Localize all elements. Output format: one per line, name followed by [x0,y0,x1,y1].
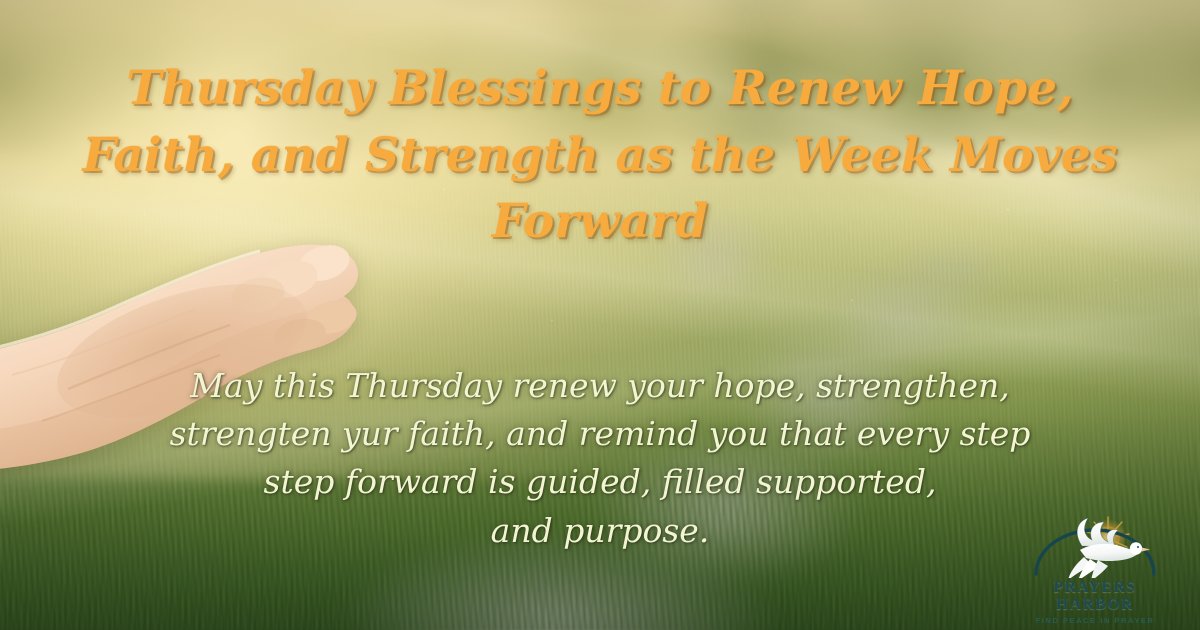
brand-name: PRAYERS HARBOR [1012,579,1178,613]
blessing-poster: Thursday Blessings to Renew Hope, Faith,… [0,0,1200,630]
blessing-message: May this Thursday renew your hope, stren… [110,362,1090,555]
dove-icon [1012,514,1178,578]
page-title: Thursday Blessings to Renew Hope, Faith,… [18,56,1182,256]
brand-tagline: FIND PEACE IN PRAYER [1012,616,1178,625]
brand-logo[interactable]: PRAYERS HARBOR FIND PEACE IN PRAYER [1012,514,1178,616]
